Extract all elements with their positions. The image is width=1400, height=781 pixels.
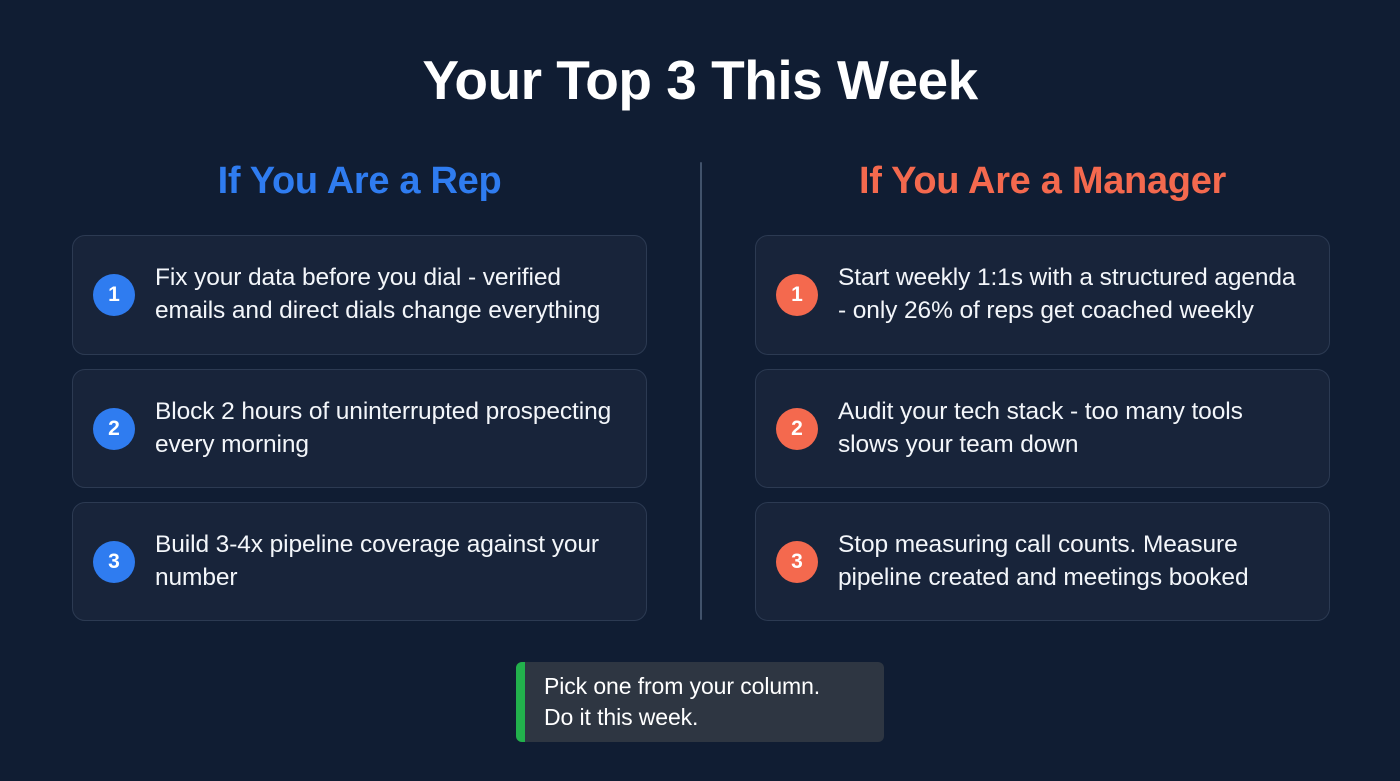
column-heading-manager: If You Are a Manager [755,160,1330,203]
callout-accent-bar [516,662,525,742]
callout-text: Pick one from your column. Do it this we… [525,671,820,733]
item-text: Audit your tech stack - too many tools s… [838,396,1307,461]
callout-line-2: Do it this week. [544,702,820,733]
column-manager: 1 Start weekly 1:1s with a structured ag… [755,235,1330,635]
column-divider [700,162,702,620]
list-item: 3 Build 3-4x pipeline coverage against y… [72,502,647,621]
slide-root: Your Top 3 This Week If You Are a Rep If… [0,0,1400,781]
list-item: 1 Start weekly 1:1s with a structured ag… [755,235,1330,355]
item-number-badge: 3 [93,541,135,583]
item-number-badge: 1 [776,274,818,316]
item-number-badge: 2 [776,408,818,450]
list-item: 2 Audit your tech stack - too many tools… [755,369,1330,488]
item-text: Block 2 hours of uninterrupted prospecti… [155,396,624,461]
column-heading-rep: If You Are a Rep [72,160,647,203]
list-item: 3 Stop measuring call counts. Measure pi… [755,502,1330,621]
column-rep: 1 Fix your data before you dial - verifi… [72,235,647,635]
item-text: Fix your data before you dial - verified… [155,262,624,327]
item-number-badge: 1 [93,274,135,316]
item-text: Start weekly 1:1s with a structured agen… [838,262,1307,327]
callout-box: Pick one from your column. Do it this we… [516,662,884,742]
item-number-badge: 3 [776,541,818,583]
item-text: Build 3-4x pipeline coverage against you… [155,529,624,594]
page-title: Your Top 3 This Week [0,48,1400,112]
list-item: 1 Fix your data before you dial - verifi… [72,235,647,355]
item-text: Stop measuring call counts. Measure pipe… [838,529,1307,594]
item-number-badge: 2 [93,408,135,450]
list-item: 2 Block 2 hours of uninterrupted prospec… [72,369,647,488]
callout-line-1: Pick one from your column. [544,671,820,702]
